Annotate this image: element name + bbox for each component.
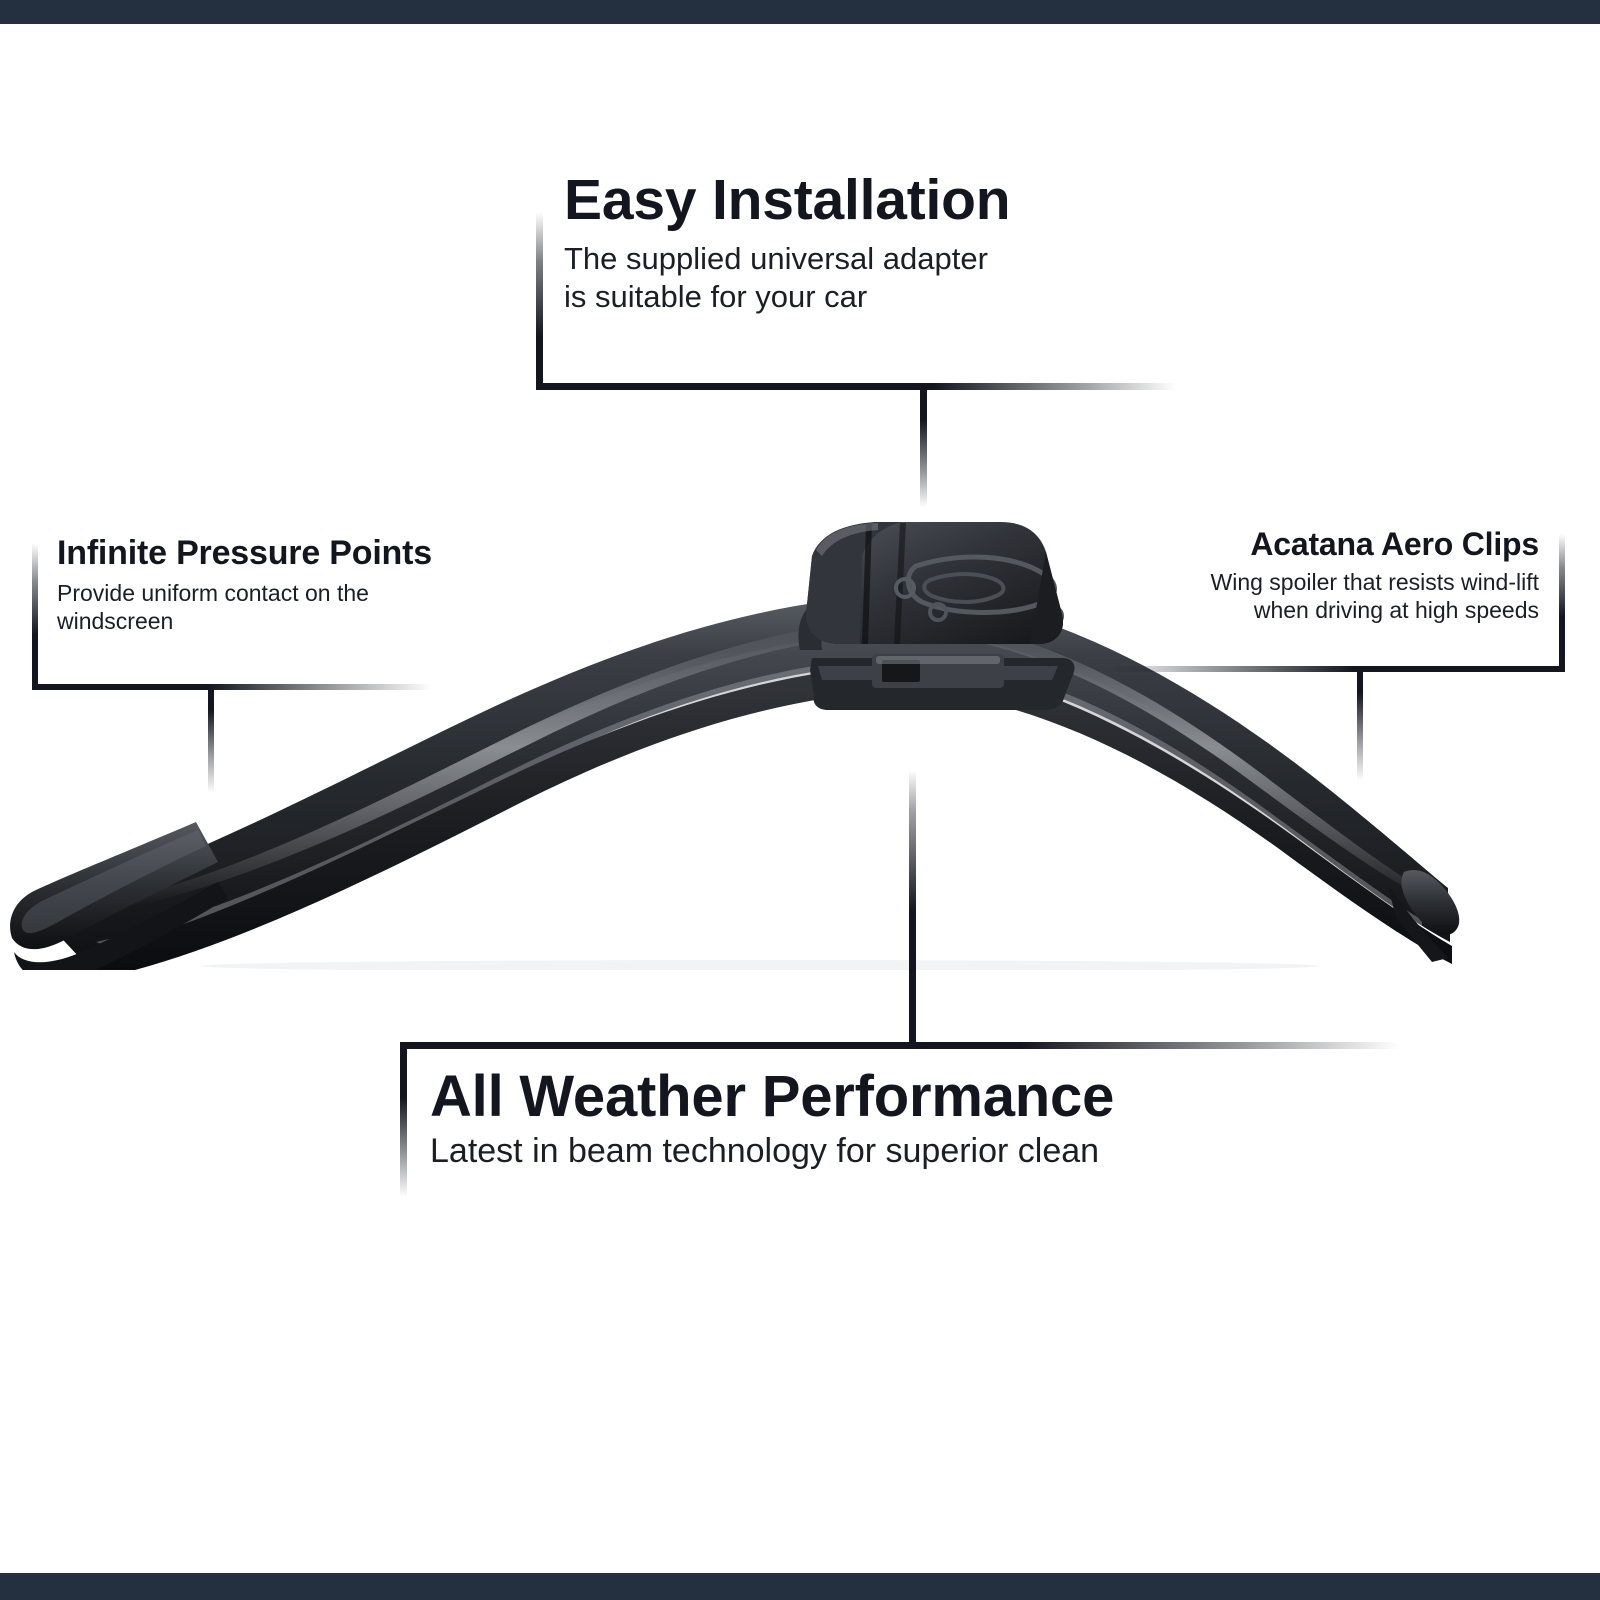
callout-easy-installation: Easy Installation The supplied universal… (536, 170, 1176, 390)
infographic-canvas: Easy Installation The supplied universal… (0, 0, 1600, 1600)
callout-edge-bottom (32, 684, 432, 690)
callout-infinite-pressure-points: Infinite Pressure Points Provide uniform… (32, 535, 432, 690)
callout-subtitle-line-1: Wing spoiler that resists wind-lift (1105, 568, 1539, 596)
callout-subtitle-line-2: when driving at high speeds (1105, 596, 1539, 624)
callout-title: Easy Installation (564, 170, 1176, 230)
callout-edge-bottom (1105, 666, 1565, 672)
callout-edge-bottom (536, 383, 1176, 390)
callout-leader-line (909, 770, 916, 1042)
callout-leader-line (208, 689, 214, 793)
callout-title: Infinite Pressure Points (57, 535, 432, 571)
callout-subtitle-line-2: is suitable for your car (564, 278, 1134, 316)
callout-acatana-aero-clips: Acatana Aero Clips Wing spoiler that res… (1105, 528, 1565, 672)
adapter-latch-highlight (876, 656, 1000, 664)
callout-subtitle: The supplied universal adapter is suitab… (564, 240, 1134, 316)
callout-subtitle-line-1: The supplied universal adapter (564, 240, 1134, 278)
callout-edge-left (536, 212, 543, 390)
callout-subtitle: Wing spoiler that resists wind-lift when… (1105, 568, 1565, 624)
callout-subtitle-line-1: Provide uniform contact on the (57, 579, 432, 607)
callout-title: All Weather Performance (430, 1066, 1400, 1127)
callout-edge-left (32, 543, 38, 690)
callout-subtitle-line-2: windscreen (57, 607, 432, 635)
callout-edge-top (400, 1042, 1400, 1049)
callout-subtitle: Provide uniform contact on the windscree… (57, 579, 432, 635)
callout-edge-left (400, 1042, 407, 1197)
blade-drop-shadow (200, 960, 1320, 970)
callout-leader-line (1357, 671, 1363, 781)
callout-edge-right (1559, 534, 1565, 672)
bottom-accent-band (0, 1573, 1600, 1600)
callout-title: Acatana Aero Clips (1105, 528, 1565, 562)
callout-subtitle: Latest in beam technology for superior c… (430, 1131, 1400, 1172)
callout-all-weather-performance: All Weather Performance Latest in beam t… (400, 1042, 1400, 1192)
top-accent-band (0, 0, 1600, 24)
callout-leader-line (920, 389, 927, 507)
